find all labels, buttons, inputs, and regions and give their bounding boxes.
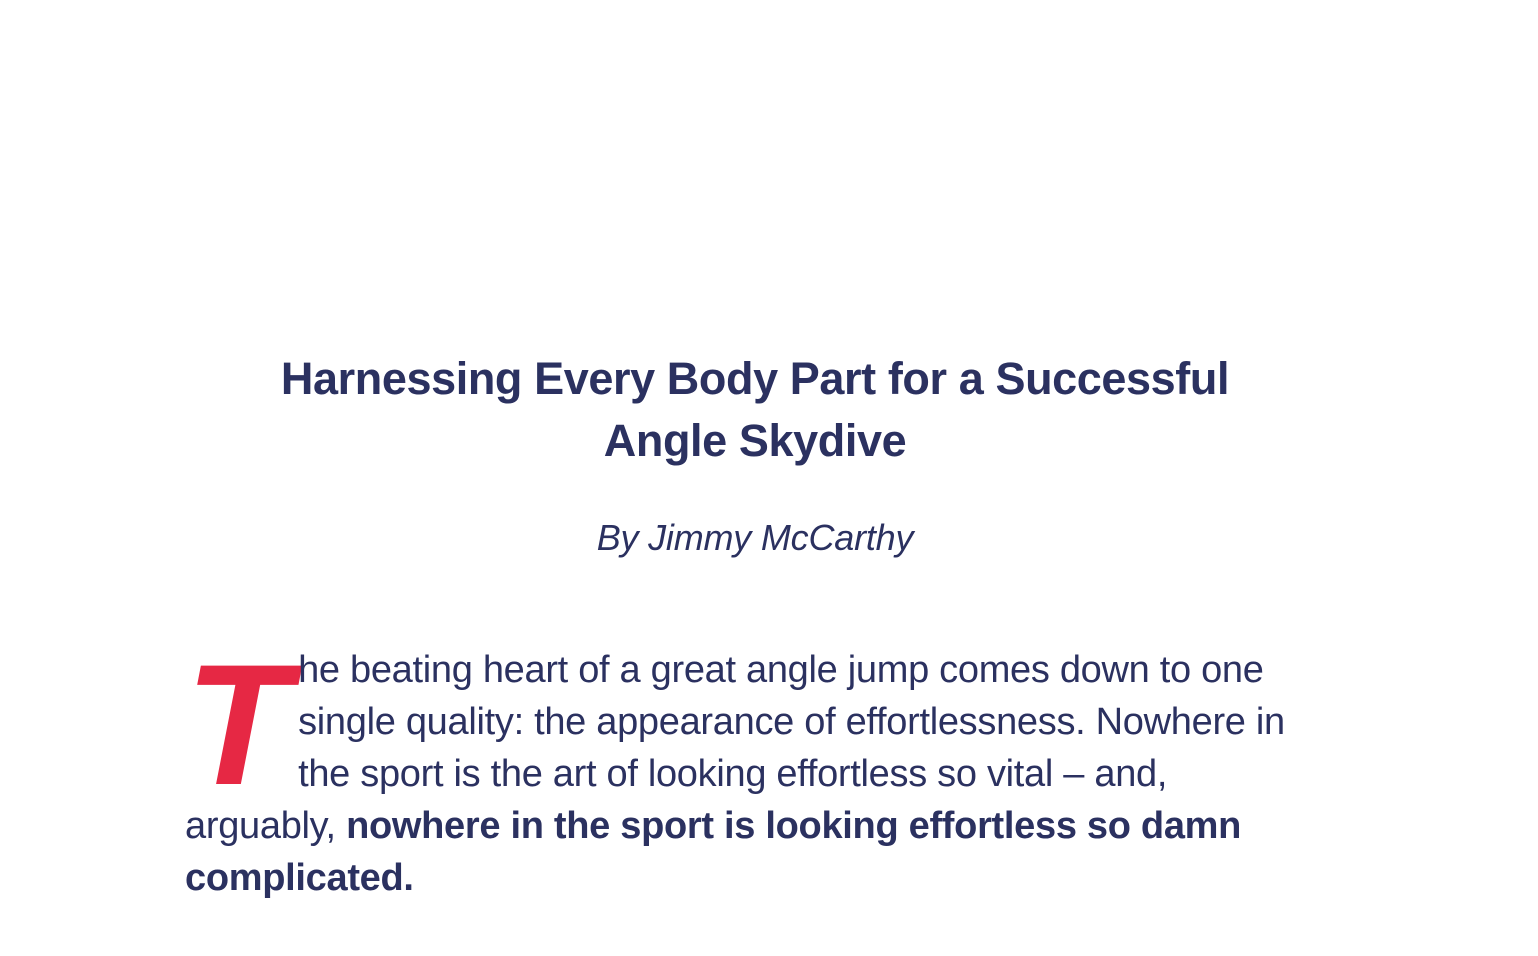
title-line-1: Harnessing Every Body Part for a Success… [185, 348, 1325, 410]
title-line-2: Angle Skydive [185, 410, 1325, 472]
article-container: Harnessing Every Body Part for a Success… [185, 0, 1325, 904]
article-page: Harnessing Every Body Part for a Success… [0, 0, 1538, 956]
article-byline: By Jimmy McCarthy [185, 472, 1325, 560]
dropcap-letter: T [185, 652, 288, 800]
article-body: The beating heart of a great angle jump … [185, 560, 1325, 904]
page-title: Harnessing Every Body Part for a Success… [185, 0, 1325, 472]
